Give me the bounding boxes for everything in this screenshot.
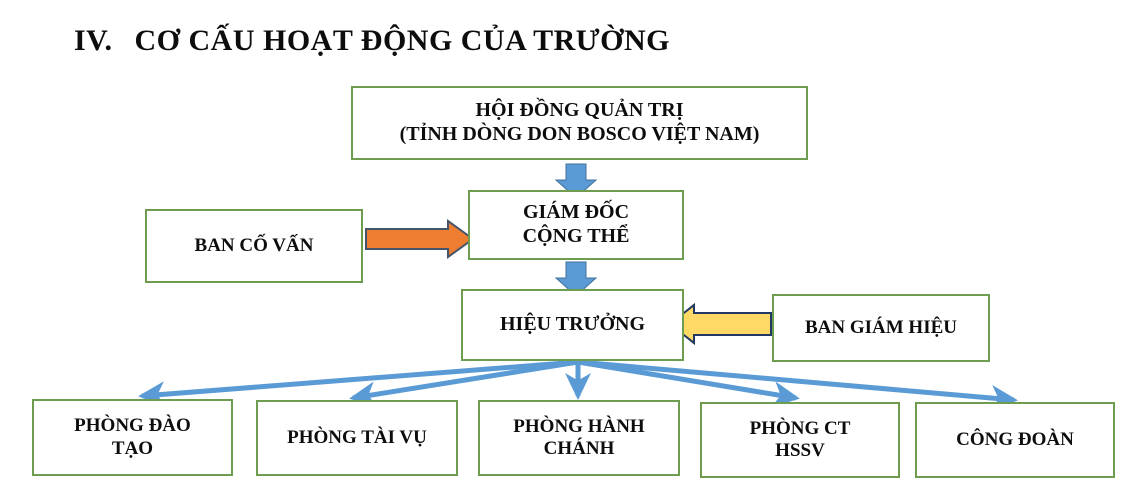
node-board-of-trustees[interactable]: HỘI ĐỒNG QUẢN TRỊ (TỈNH DÒNG DON BOSCO V… [351,86,808,160]
node-department-student-affairs[interactable]: PHÒNG CT HSSV [700,402,900,478]
node-board-line2: (TỈNH DÒNG DON BOSCO VIỆT NAM) [400,123,760,147]
principal-to-dept-4-arrow [578,362,1014,400]
node-board-line1: HỘI ĐỒNG QUẢN TRỊ [400,99,760,123]
node-dept-1-line1: PHÒNG TÀI VỤ [287,427,427,449]
principal-to-dept-1-arrow [353,362,578,398]
node-principal-line1: HIỆU TRƯỞNG [500,313,645,337]
node-director-line2: CỘNG THỂ [523,225,630,249]
node-principal[interactable]: HIỆU TRƯỞNG [461,289,684,361]
node-dept-0-line1: PHÒNG ĐÀO [74,415,191,437]
node-boardmgmt-line1: BAN GIÁM HIỆU [805,317,957,339]
node-board-of-management[interactable]: BAN GIÁM HIỆU [772,294,990,362]
node-department-training[interactable]: PHÒNG ĐÀO TẠO [32,399,233,476]
node-dept-0-line2: TẠO [74,438,191,460]
node-dept-2-line1: PHÒNG HÀNH [513,416,644,438]
principal-to-dept-0-arrow [142,362,578,396]
node-department-finance[interactable]: PHÒNG TÀI VỤ [256,400,458,476]
organization-chart-canvas: IV.CƠ CẤU HOẠT ĐỘNG CỦA TRƯỜNG HỘI ĐỒNG … [0,0,1134,490]
node-dept-4-line1: CÔNG ĐOÀN [956,429,1074,451]
node-advisory-line1: BAN CỐ VẤN [195,235,314,257]
node-director-line1: GIÁM ĐỐC [523,201,630,225]
node-director[interactable]: GIÁM ĐỐC CỘNG THỂ [468,190,684,260]
node-advisory-committee[interactable]: BAN CỐ VẤN [145,209,363,283]
node-trade-union[interactable]: CÔNG ĐOÀN [915,402,1115,478]
node-dept-3-line2: HSSV [750,440,851,462]
node-dept-2-line2: CHÁNH [513,438,644,460]
node-department-administration[interactable]: PHÒNG HÀNH CHÁNH [478,400,680,476]
node-dept-3-line1: PHÒNG CT [750,418,851,440]
